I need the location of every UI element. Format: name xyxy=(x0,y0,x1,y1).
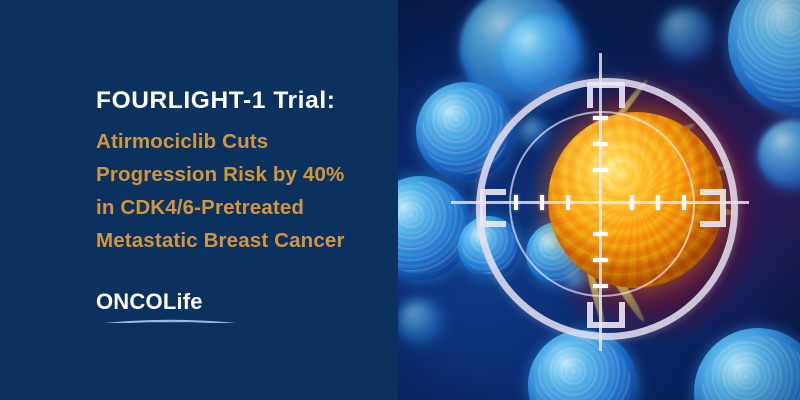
headline-subtitle-line-2: Progression Risk by 40% xyxy=(96,158,396,191)
headline-subtitle-line-4: Metastatic Breast Cancer xyxy=(96,224,396,257)
cancer-cell-illustration xyxy=(398,0,800,400)
headline-subtitle-line-1: Atirmociclib Cuts xyxy=(96,125,396,158)
reticle-notch-top xyxy=(587,82,625,108)
text-panel: FOURLIGHT-1 Trial: Atirmociclib Cuts Pro… xyxy=(0,0,398,400)
headline-block: FOURLIGHT-1 Trial: Atirmociclib Cuts Pro… xyxy=(96,84,396,257)
logo-onco-text: ONCO xyxy=(96,289,163,314)
logo-wordmark: ONCOLife xyxy=(96,290,256,314)
oncolife-logo[interactable]: ONCOLife xyxy=(96,290,256,314)
headline-subtitle-line-3: in CDK4/6-Pretreated xyxy=(96,191,396,224)
reticle-outer-ring xyxy=(476,78,738,340)
reticle-notch-bottom xyxy=(587,302,625,328)
logo-swoosh-icon xyxy=(90,314,240,323)
headline-title: FOURLIGHT-1 Trial: xyxy=(96,84,396,118)
reticle-notch-left xyxy=(480,189,506,227)
reticle-notch-right xyxy=(700,189,726,227)
logo-life-text: Life xyxy=(163,289,203,314)
promo-banner: FOURLIGHT-1 Trial: Atirmociclib Cuts Pro… xyxy=(0,0,800,400)
